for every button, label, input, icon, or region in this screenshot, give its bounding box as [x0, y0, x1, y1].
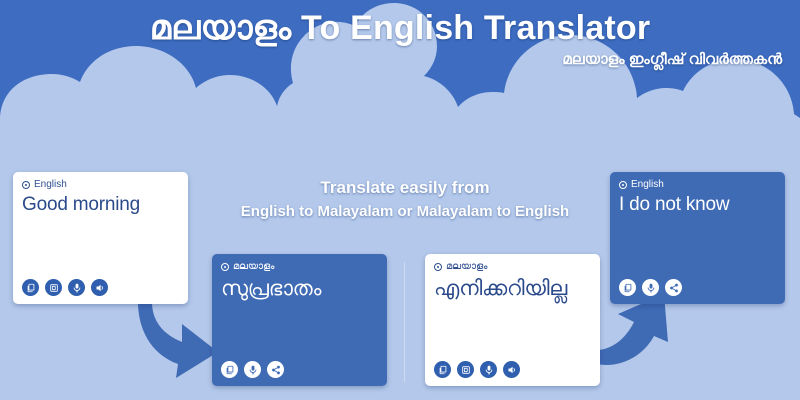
card-text[interactable]: I do not know	[619, 192, 776, 218]
card-language-row[interactable]: English	[619, 179, 776, 191]
share-icon[interactable]	[267, 361, 284, 378]
card-target-malayalam[interactable]: മലയാളം സുപ്രഭാതം	[212, 254, 387, 386]
card-actions	[619, 279, 776, 296]
copy-alt-icon[interactable]	[457, 361, 474, 378]
card-text[interactable]: എനിക്കറിയില്ല	[434, 274, 591, 303]
card-text[interactable]: സുപ്രഭാതം	[221, 274, 378, 303]
language-label: മലയാളം	[446, 261, 487, 273]
language-radio-icon[interactable]	[221, 263, 229, 271]
microphone-icon[interactable]	[68, 279, 85, 296]
page-title: മലയാളം To English Translator	[0, 8, 800, 48]
copy-alt-icon[interactable]	[45, 279, 62, 296]
card-language-row[interactable]: മലയാളം	[434, 261, 591, 273]
copy-icon[interactable]	[619, 279, 636, 296]
card-source-english[interactable]: English Good morning	[13, 172, 188, 304]
card-actions	[221, 361, 378, 378]
card-language-row[interactable]: മലയാളം	[221, 261, 378, 273]
language-label: English	[34, 179, 67, 191]
card-actions	[434, 361, 591, 378]
card-target-english[interactable]: English I do not know	[610, 172, 785, 304]
copy-icon[interactable]	[434, 361, 451, 378]
language-radio-icon[interactable]	[434, 263, 442, 271]
language-radio-icon[interactable]	[22, 181, 30, 189]
arrow-malayalam-to-english-icon	[588, 292, 688, 374]
card-language-row[interactable]: English	[22, 179, 179, 191]
card-source-malayalam[interactable]: മലയാളം എനിക്കറിയില്ല	[425, 254, 600, 386]
card-actions	[22, 279, 179, 296]
copy-icon[interactable]	[22, 279, 39, 296]
app-promo-banner: മലയാളം To English Translator മലയാളം ഇംഗ്…	[0, 0, 800, 400]
language-label: English	[631, 179, 664, 191]
copy-icon[interactable]	[221, 361, 238, 378]
page-subtitle: മലയാളം ഇംഗ്ലീഷ് വിവർത്തകൻ	[0, 50, 800, 69]
promo-line-2: English to Malayalam or Malayalam to Eng…	[190, 200, 620, 224]
speaker-icon[interactable]	[91, 279, 108, 296]
microphone-icon[interactable]	[244, 361, 261, 378]
promo-line-1: Translate easily from	[190, 176, 620, 200]
share-icon[interactable]	[665, 279, 682, 296]
language-radio-icon[interactable]	[619, 181, 627, 189]
language-label: മലയാളം	[233, 261, 274, 273]
microphone-icon[interactable]	[642, 279, 659, 296]
card-text[interactable]: Good morning	[22, 192, 179, 218]
microphone-icon[interactable]	[480, 361, 497, 378]
promo-text: Translate easily from English to Malayal…	[190, 176, 620, 224]
header: മലയാളം To English Translator മലയാളം ഇംഗ്…	[0, 0, 800, 86]
divider	[404, 262, 405, 382]
speaker-icon[interactable]	[503, 361, 520, 378]
